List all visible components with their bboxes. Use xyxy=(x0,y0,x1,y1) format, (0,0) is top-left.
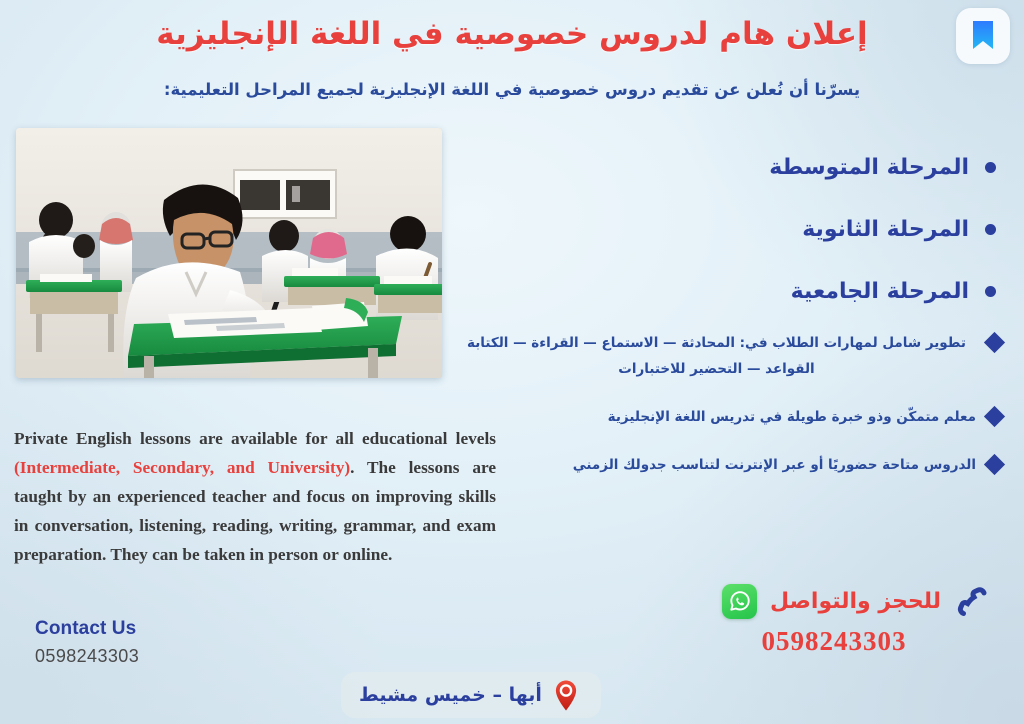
bullet-diamond-icon xyxy=(984,406,1005,427)
contact-us-title: Contact Us xyxy=(35,618,139,640)
list-item: المرحلة المتوسطة xyxy=(666,136,996,198)
booking-phone[interactable]: 0598243303 xyxy=(722,626,946,657)
list-item: الدروس متاحة حضوريًا أو عبر الإنترنت لتن… xyxy=(457,452,1002,478)
english-highlight: (Intermediate, Secondary, and University… xyxy=(14,458,350,477)
location-pill[interactable]: أبها – خميس مشيط xyxy=(341,672,601,718)
bullet-dot-icon xyxy=(985,162,996,173)
booking-label: للحجز والتواصل xyxy=(770,589,941,614)
map-pin-icon xyxy=(553,679,579,711)
feature-text: معلم متمكّن وذو خبرة طويلة في تدريس اللغ… xyxy=(457,404,976,430)
bookmark-icon xyxy=(970,19,996,53)
bullet-diamond-icon xyxy=(984,332,1005,353)
level-label: المرحلة الجامعية xyxy=(791,279,969,304)
classroom-photo xyxy=(16,128,442,378)
bullet-dot-icon xyxy=(985,286,996,297)
features-list: تطوير شامل لمهارات الطلاب في: المحادثة —… xyxy=(457,330,1002,500)
page-title: إعلان هام لدروس خصوصية في اللغة الإنجليز… xyxy=(0,11,1024,57)
feature-line-2: القواعد — التحضير للاختبارات xyxy=(618,361,814,377)
list-item: تطوير شامل لمهارات الطلاب في: المحادثة —… xyxy=(457,330,1002,382)
english-description: Private English lessons are available fo… xyxy=(14,424,496,569)
feature-text: الدروس متاحة حضوريًا أو عبر الإنترنت لتن… xyxy=(457,452,976,478)
contact-left-block: Contact Us 0598243303 xyxy=(35,618,139,667)
levels-list: المرحلة المتوسطة المرحلة الثانوية المرحل… xyxy=(666,136,996,322)
phone-icon xyxy=(954,583,990,619)
level-label: المرحلة المتوسطة xyxy=(769,155,969,180)
bookmark-badge[interactable] xyxy=(956,8,1010,64)
page-subtitle: يسرّنا أن نُعلن عن تقديم دروس خصوصية في … xyxy=(0,77,1024,103)
booking-row: للحجز والتواصل xyxy=(722,583,990,619)
list-item: المرحلة الجامعية xyxy=(666,260,996,322)
level-label: المرحلة الثانوية xyxy=(802,217,969,242)
feature-line-1: تطوير شامل لمهارات الطلاب في: المحادثة —… xyxy=(467,335,966,351)
list-item: معلم متمكّن وذو خبرة طويلة في تدريس اللغ… xyxy=(457,404,1002,430)
location-label: أبها – خميس مشيط xyxy=(359,684,542,706)
bullet-diamond-icon xyxy=(984,454,1005,475)
list-item: المرحلة الثانوية xyxy=(666,198,996,260)
english-part-1: Private English lessons are available fo… xyxy=(14,429,496,448)
whatsapp-icon[interactable] xyxy=(722,584,757,619)
contact-us-phone[interactable]: 0598243303 xyxy=(35,646,139,667)
bullet-dot-icon xyxy=(985,224,996,235)
booking-block: للحجز والتواصل 0598243303 xyxy=(722,583,990,657)
poster-root: إعلان هام لدروس خصوصية في اللغة الإنجليز… xyxy=(0,0,1024,724)
feature-text: تطوير شامل لمهارات الطلاب في: المحادثة —… xyxy=(457,330,976,382)
